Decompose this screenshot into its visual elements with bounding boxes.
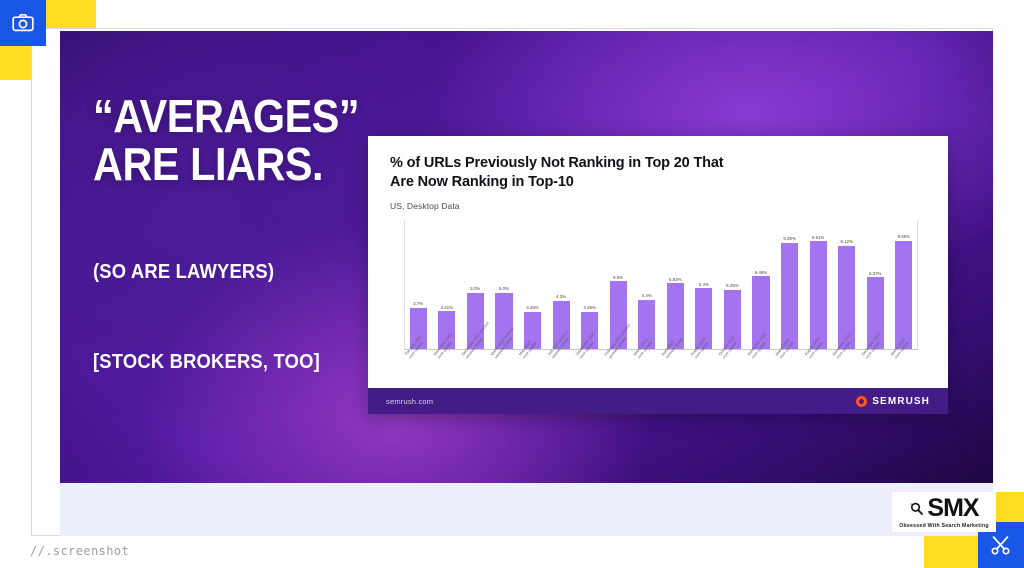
bar-value-label: 5.83%	[669, 277, 681, 282]
x-label-slot: March 2023 core update	[633, 354, 662, 402]
semrush-chart-card: % of URLs Previously Not Ranking in Top …	[368, 136, 948, 414]
slide-subline-lawyers: (SO ARE LAWYERS)	[93, 261, 274, 284]
x-label-slot: February 2023 product reviews update	[604, 354, 633, 402]
x-label-slot: November 2021 core update	[433, 354, 462, 402]
presentation-slide: “AVERAGES” ARE LIARS. (SO ARE LAWYERS) […	[60, 31, 993, 483]
bar-value-label: 5.4%	[699, 282, 709, 287]
bar-value-label: 3.36%	[526, 305, 538, 310]
smx-tagline: Obsessed With Search Marketing	[899, 523, 989, 529]
bar-value-label: 5.25%	[726, 283, 738, 288]
magnifier-icon	[909, 501, 924, 516]
x-label-slot: March 2024 core update	[775, 354, 804, 402]
x-label-slot: August 2024 core update	[804, 354, 833, 402]
scissors-icon	[989, 533, 1013, 557]
x-label-slot: April 2023 reviews update	[661, 354, 690, 402]
bar-value-label: 3.36%	[583, 305, 595, 310]
chart-title: % of URLs Previously Not Ranking in Top …	[390, 154, 926, 192]
x-label-slot: March 2025 core update	[890, 354, 919, 402]
smx-logo-row: SMX	[909, 496, 978, 521]
bar-value-label: 9.55%	[898, 234, 910, 239]
bar-value-label: 3.7%	[413, 301, 423, 306]
bar-value-label: 3.41%	[441, 305, 453, 310]
screenshot-capture-button[interactable]	[0, 0, 46, 46]
bar-value-label: 9.12%	[841, 239, 853, 244]
chart-subtitle: US, Desktop Data	[390, 201, 926, 211]
semrush-logo-icon	[856, 396, 867, 407]
bar-value-label: 5.0%	[499, 286, 509, 291]
slide-headline: “AVERAGES” ARE LIARS.	[93, 93, 359, 189]
bar-value-label: 6.46%	[755, 270, 767, 275]
x-label-slot: October 2023 core update	[718, 354, 747, 402]
bar-value-label: 9.38%	[783, 236, 795, 241]
x-label-slot: March 2022 product reviews update	[490, 354, 519, 402]
slide-headline-block: “AVERAGES” ARE LIARS.	[93, 93, 389, 189]
x-axis-labels: The July 2021 core updateNovember 2021 c…	[404, 354, 918, 402]
x-label-slot: December 2024 core update	[861, 354, 890, 402]
bar-value-label: 6.37%	[869, 271, 881, 276]
bar-value-label: 6.0%	[613, 275, 623, 280]
x-label-slot: The July 2021 core update	[404, 354, 433, 402]
x-label-slot: December 2021 product reviews update	[461, 354, 490, 402]
slide-bottom-band	[60, 483, 993, 536]
bar-value-label: 5.0%	[470, 286, 480, 291]
x-label-slot: November 2024 core update	[832, 354, 861, 402]
smx-logo: SMX Obsessed With Search Marketing	[892, 492, 996, 532]
screenshot-root: “AVERAGES” ARE LIARS. (SO ARE LAWYERS) […	[0, 0, 1024, 568]
bar-value-label: 9.51%	[812, 235, 824, 240]
smx-wordmark: SMX	[927, 496, 978, 521]
camera-icon	[11, 11, 35, 35]
x-label-slot: November 2023 core update	[747, 354, 776, 402]
x-label-slot: May 2022 core update	[518, 354, 547, 402]
bar-value-label: 4.3%	[556, 294, 566, 299]
bar-value-label: 4.4%	[642, 293, 652, 298]
slide-subline-stockbrokers: [STOCK BROKERS, TOO]	[93, 351, 320, 374]
screenshot-caption: //.screenshot	[30, 544, 129, 558]
chart-card-body: % of URLs Previously Not Ranking in Top …	[368, 136, 948, 388]
x-label-slot: August 2023 core update	[690, 354, 719, 402]
x-label-slot: September 2022 core update	[575, 354, 604, 402]
x-label-slot: July 2022 product reviews update	[547, 354, 576, 402]
